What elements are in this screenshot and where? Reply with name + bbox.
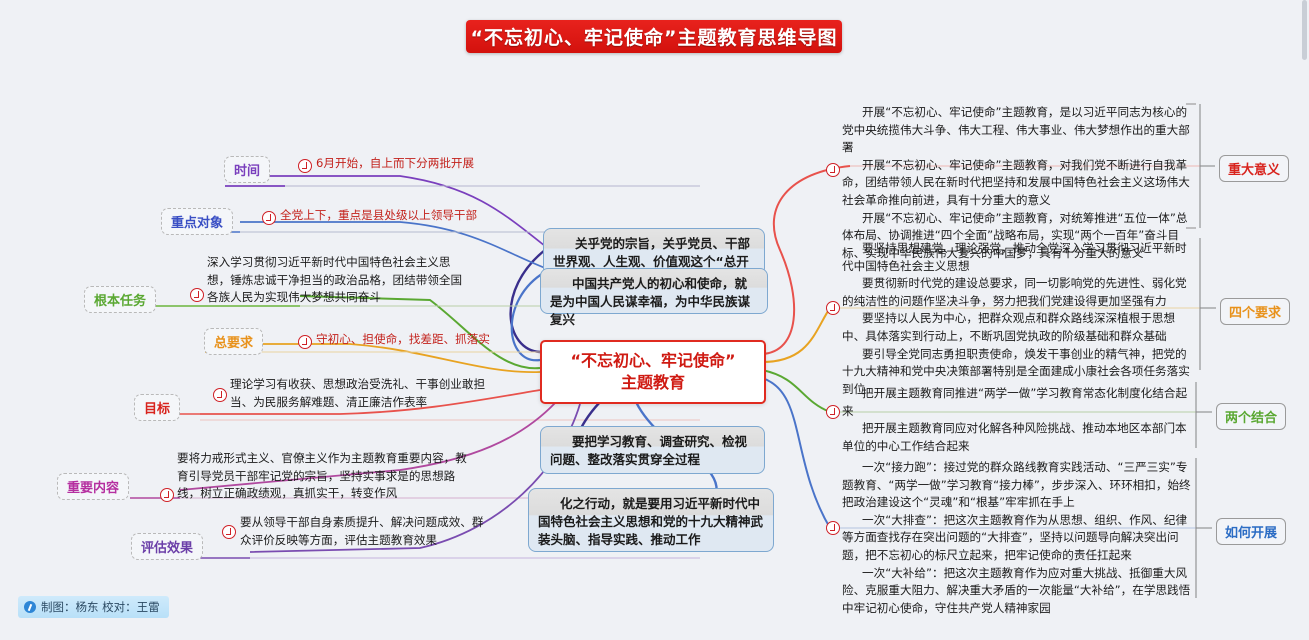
bullet-icon: [262, 211, 276, 225]
bullet-icon: [826, 405, 840, 419]
credit-badge: 制图：杨东 校对：王雷: [18, 596, 169, 618]
leaf-left-fundamental-task: 深入学习贯彻习近平新时代中国特色社会主义思想，锤炼忠诚干净担当的政治品格，团结带…: [207, 254, 469, 307]
leaf-left-evaluate-effect: 要从领导干部自身素质提升、解决问题成效、群众评价反映等方面，评估主题教育效果: [240, 514, 490, 549]
chip-label: 根本任务: [94, 294, 146, 309]
chip-label: 重要内容: [67, 481, 119, 496]
chip-right-four-requirements[interactable]: 四个要求: [1220, 298, 1290, 325]
leaf-right-four-requirements: 要坚持思想建党、理论强党，推动全党深入学习贯彻习近平新时代中国特色社会主义思想 …: [842, 240, 1192, 398]
bullet-icon: [298, 335, 312, 349]
page-title: “不忘初心、牢记使命”主题教育思维导图: [466, 20, 842, 53]
mid-node-mission[interactable]: 中国共产党人的初心和使命，就是为中国人民谋幸福，为中华民族谋复兴: [540, 268, 768, 314]
bullet-icon: [160, 488, 174, 502]
chip-left-goal[interactable]: 目标: [134, 394, 180, 421]
chip-label: 评估效果: [141, 541, 193, 556]
leaf-left-time: 6月开始，自上而下分两批开展: [316, 155, 606, 173]
pencil-icon: [24, 601, 36, 613]
chip-right-significance[interactable]: 重大意义: [1219, 155, 1289, 182]
center-node-line-1: “不忘初心、牢记使命”: [570, 350, 735, 372]
bullet-icon: [222, 525, 236, 539]
chip-right-how-to-carry-out[interactable]: 如何开展: [1216, 518, 1286, 545]
chip-right-two-combinations[interactable]: 两个结合: [1216, 403, 1286, 430]
chip-label: 总要求: [214, 336, 253, 351]
center-node-line-2: 主题教育: [621, 372, 685, 394]
mid-node-whole-process[interactable]: 要把学习教育、调查研究、检视问题、整改落实贯穿全过程: [540, 426, 765, 474]
leaf-left-important-content: 要将力戒形式主义、官僚主义作为主题教育重要内容，教育引导党员干部牢记党的宗旨，坚…: [177, 450, 477, 503]
bullet-icon: [213, 388, 227, 402]
bullet-icon: [826, 521, 840, 535]
bullet-icon: [298, 159, 312, 173]
chip-label: 两个结合: [1225, 411, 1277, 426]
chip-left-key-target[interactable]: 重点对象: [161, 208, 233, 235]
leaf-right-two-combinations: 把开展主题教育同推进“两学一做”学习教育常态化制度化结合起来 把开展主题教育同应…: [842, 385, 1194, 455]
leaf-right-how-to-carry-out: 一次“接力跑”：接过党的群众路线教育实践活动、“三严三实”专题教育、“两学一做”…: [842, 459, 1194, 617]
credit-text: 制图：杨东 校对：王雷: [41, 599, 160, 615]
chip-label: 四个要求: [1229, 306, 1281, 321]
chip-label: 如何开展: [1225, 526, 1277, 541]
chip-left-evaluate-effect[interactable]: 评估效果: [131, 533, 203, 560]
center-node[interactable]: “不忘初心、牢记使命” 主题教育: [540, 340, 766, 404]
leaf-left-key-target: 全党上下，重点是县处级以上领导干部: [280, 207, 580, 225]
chip-label: 重大意义: [1228, 163, 1280, 178]
chip-label: 重点对象: [171, 216, 223, 231]
chip-left-general-requirement[interactable]: 总要求: [204, 328, 263, 355]
mindmap-canvas: “不忘初心、牢记使命”主题教育思维导图 “不忘初心、牢记使命” 主题教育 关乎党…: [0, 0, 1309, 640]
chip-label: 时间: [234, 164, 260, 179]
mid-node-action[interactable]: 化之行动，就是要用习近平新时代中国特色社会主义思想和党的十九大精神武装头脑、指导…: [528, 488, 774, 552]
chip-left-fundamental-task[interactable]: 根本任务: [84, 286, 156, 313]
leaf-left-goal: 理论学习有收获、思想政治受洗礼、干事创业敢担当、为民服务解难题、清正廉洁作表率: [230, 376, 492, 411]
chip-label: 目标: [144, 402, 170, 417]
scrollbar[interactable]: [1302, 0, 1307, 60]
bullet-icon: [826, 301, 840, 315]
bullet-icon: [826, 163, 840, 177]
page-title-text: “不忘初心、牢记使命”主题教育思维导图: [471, 23, 838, 50]
bullet-icon: [190, 288, 204, 302]
leaf-right-significance: 开展“不忘初心、牢记使命”主题教育，是以习近平同志为核心的党中央统揽伟大斗争、伟…: [842, 104, 1192, 262]
chip-left-important-content[interactable]: 重要内容: [57, 473, 129, 500]
chip-left-time[interactable]: 时间: [224, 156, 270, 183]
